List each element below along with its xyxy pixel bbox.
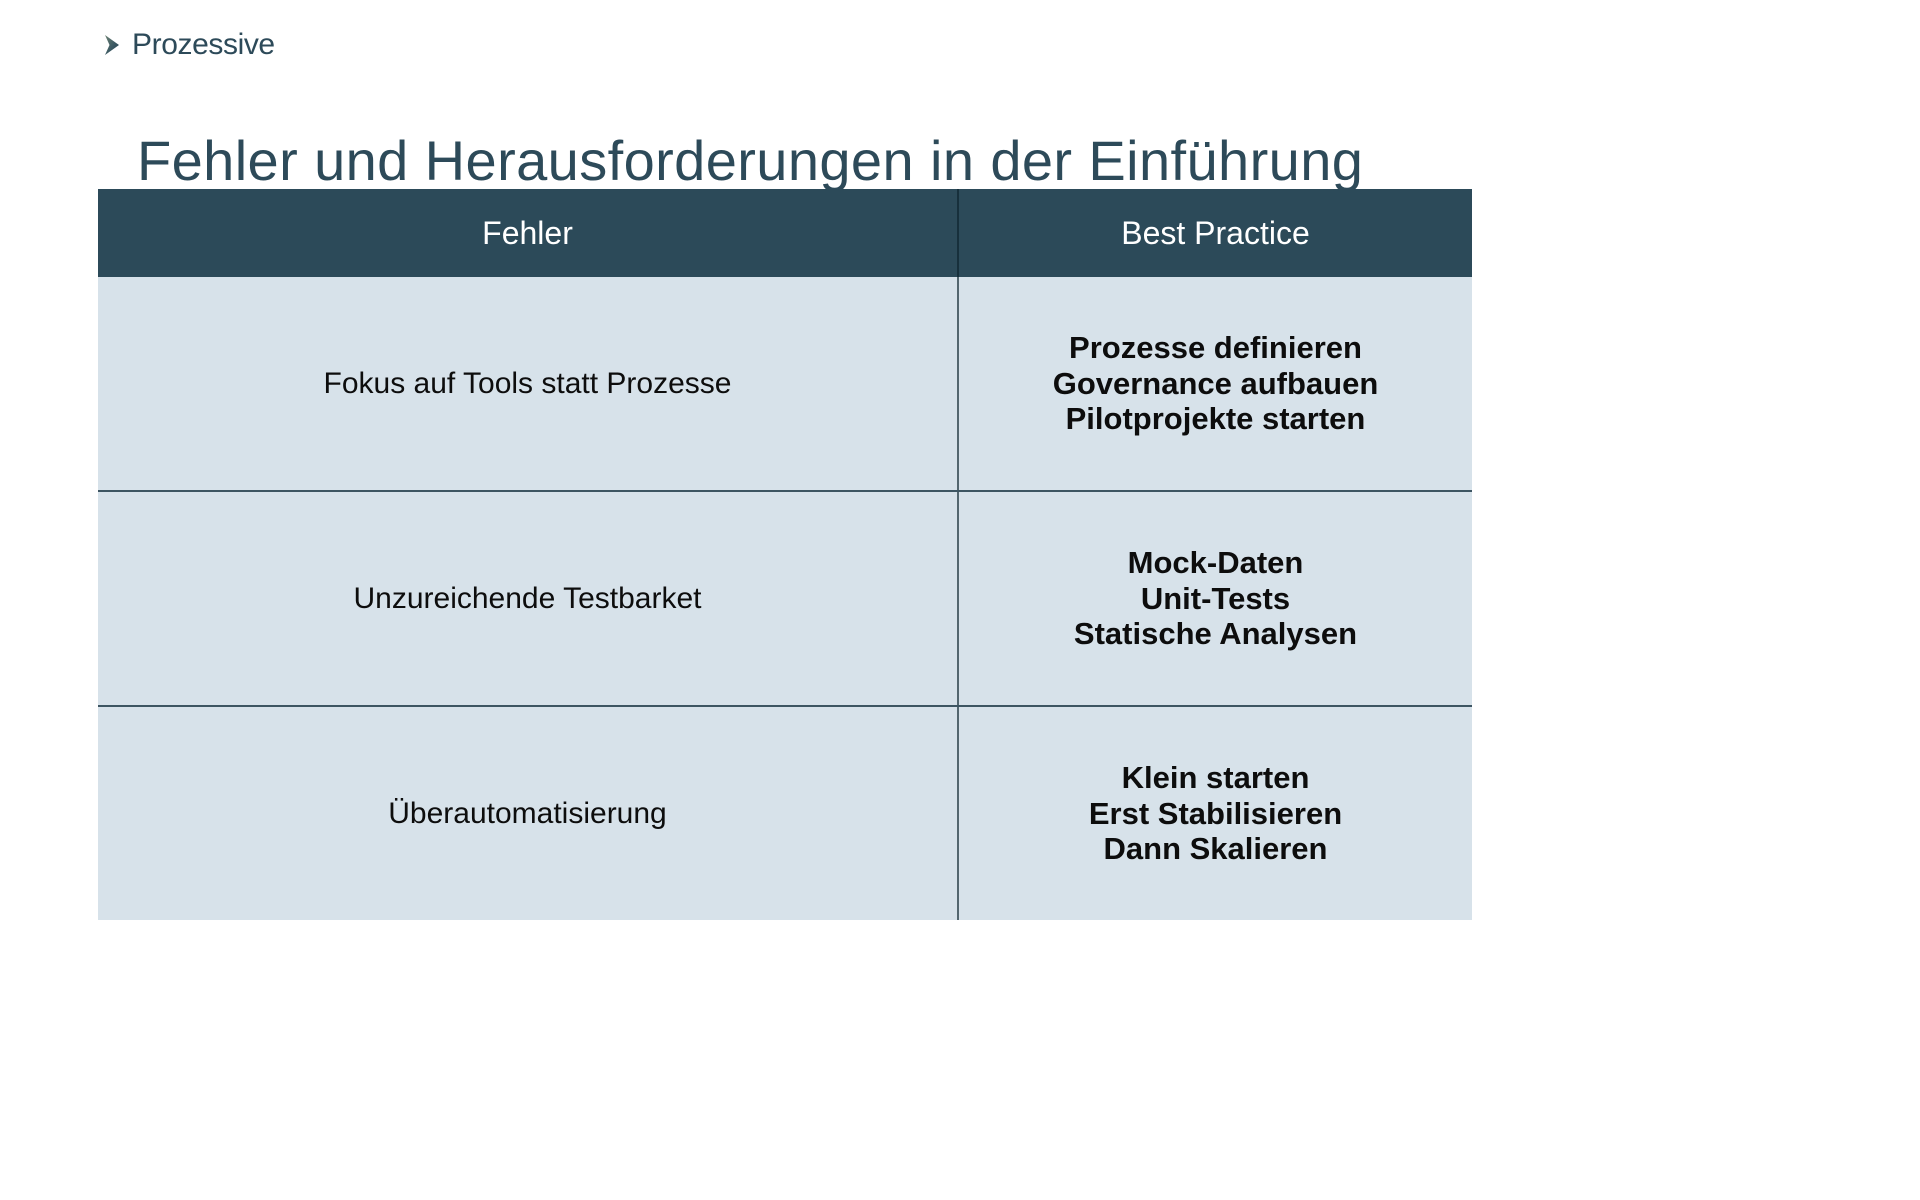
brand-logo: Prozessive <box>96 28 275 62</box>
best-practice-line: Erst Stabilisieren <box>979 796 1452 832</box>
best-practice-line: Governance aufbauen <box>979 366 1452 402</box>
best-practice-line: Unit-Tests <box>979 581 1452 617</box>
best-practice-line: Klein starten <box>979 760 1452 796</box>
cell-best-practice: Prozesse definieren Governance aufbauen … <box>958 277 1472 491</box>
table-header-row: Fehler Best Practice <box>98 189 1472 277</box>
cell-best-practice: Klein starten Erst Stabilisieren Dann Sk… <box>958 706 1472 920</box>
table-body: Fokus auf Tools statt Prozesse Prozesse … <box>98 277 1472 920</box>
column-header-fehler: Fehler <box>98 189 958 277</box>
page-title: Fehler und Herausforderungen in der Einf… <box>137 130 1363 192</box>
column-header-best-practice: Best Practice <box>958 189 1472 277</box>
table: Fehler Best Practice Fokus auf Tools sta… <box>98 189 1472 920</box>
table-header: Fehler Best Practice <box>98 189 1472 277</box>
table-row: Fokus auf Tools statt Prozesse Prozesse … <box>98 277 1472 491</box>
brand-name: Prozessive <box>132 30 275 60</box>
best-practice-line: Statische Analysen <box>979 616 1452 652</box>
cell-error: Unzureichende Testbarket <box>98 491 958 706</box>
table-row: Überautomatisierung Klein starten Erst S… <box>98 706 1472 920</box>
best-practice-line: Pilotprojekte starten <box>979 401 1452 437</box>
comparison-table: Fehler Best Practice Fokus auf Tools sta… <box>98 189 1472 920</box>
best-practice-line: Prozesse definieren <box>979 330 1452 366</box>
cell-error: Überautomatisierung <box>98 706 958 920</box>
best-practice-line: Dann Skalieren <box>979 831 1452 867</box>
table-row: Unzureichende Testbarket Mock-Daten Unit… <box>98 491 1472 706</box>
chevron-right-icon <box>96 28 130 62</box>
best-practice-line: Mock-Daten <box>979 545 1452 581</box>
cell-error: Fokus auf Tools statt Prozesse <box>98 277 958 491</box>
cell-best-practice: Mock-Daten Unit-Tests Statische Analysen <box>958 491 1472 706</box>
